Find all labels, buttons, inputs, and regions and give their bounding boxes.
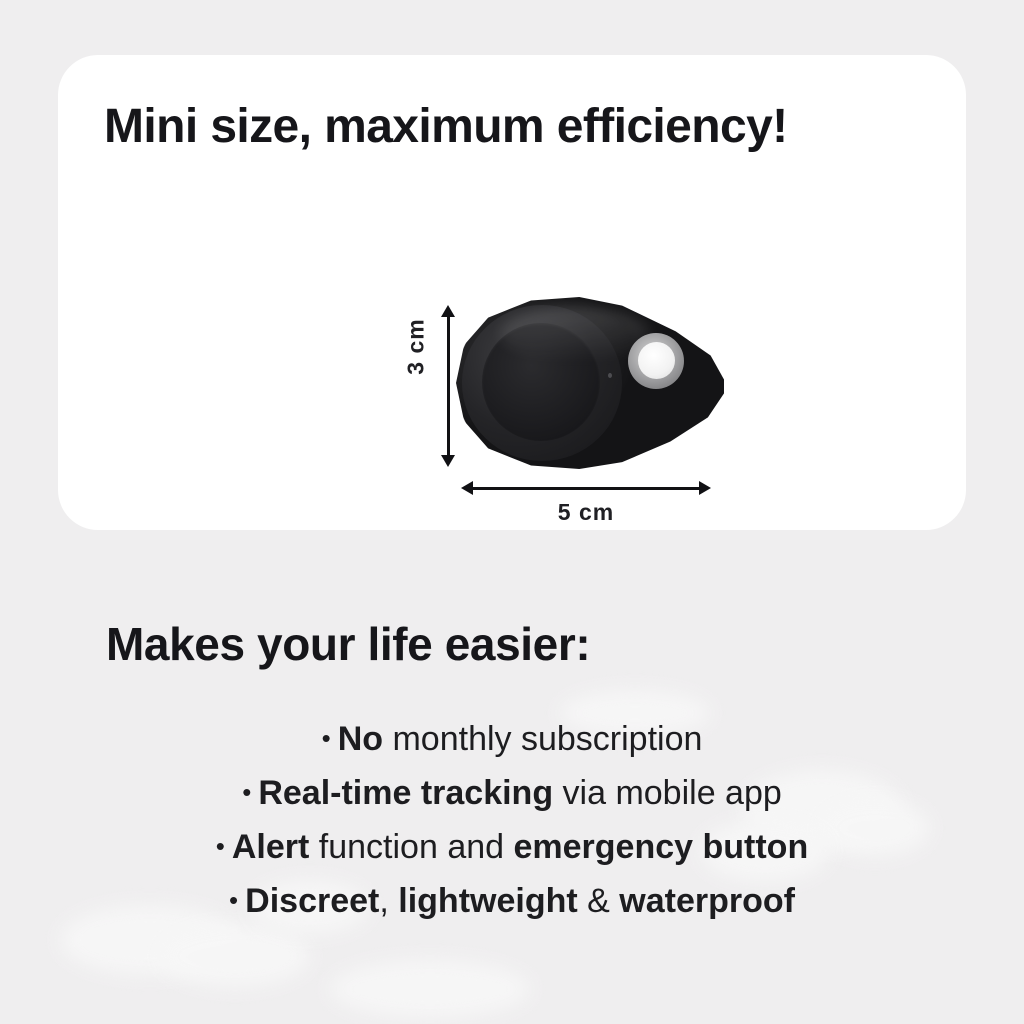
- list-item-plain-2: &: [578, 882, 620, 920]
- arrow-shaft: [447, 312, 450, 460]
- benefits-heading: Makes your life easier:: [106, 617, 590, 671]
- bullet-icon: •: [242, 777, 251, 807]
- cloud-blob: [160, 925, 310, 987]
- product-figure: 3 cm 5 cm: [328, 235, 948, 515]
- height-dimension-arrow: [441, 305, 455, 467]
- list-item-bold-2: lightweight: [398, 882, 577, 920]
- bullet-icon: •: [229, 885, 238, 915]
- list-item: •Real-time tracking via mobile app: [0, 766, 1024, 820]
- list-item-bold-1: Alert: [232, 828, 309, 866]
- list-item: •Discreet, lightweight & waterproof: [0, 874, 1024, 928]
- arrow-shaft: [468, 487, 704, 490]
- fob-highlight: [500, 307, 650, 361]
- arrow-down-head-icon: [441, 455, 455, 467]
- benefits-list: •No monthly subscription •Real-time trac…: [0, 712, 1024, 928]
- fob-keyring-hole: [638, 342, 675, 379]
- list-item-plain-1: ,: [379, 882, 398, 920]
- list-item: •Alert function and emergency button: [0, 820, 1024, 874]
- list-item-bold-1: Real-time tracking: [258, 774, 553, 812]
- cloud-blob: [330, 960, 530, 1018]
- list-item-plain-1: monthly subscription: [383, 720, 702, 758]
- bullet-icon: •: [216, 831, 225, 861]
- list-item-plain-1: function and: [309, 828, 513, 866]
- bullet-icon: •: [322, 723, 331, 753]
- product-card: Mini size, maximum efficiency! 3 cm 5 cm: [58, 55, 966, 530]
- height-dimension-label: 3 cm: [403, 318, 430, 374]
- list-item-bold-2: emergency button: [514, 828, 809, 866]
- list-item-bold-1: Discreet: [245, 882, 379, 920]
- width-dimension-label: 5 cm: [461, 499, 711, 526]
- key-fob-tracker-image: [456, 297, 724, 469]
- arrow-right-head-icon: [699, 481, 711, 495]
- list-item-plain-1: via mobile app: [553, 774, 782, 812]
- list-item: •No monthly subscription: [0, 712, 1024, 766]
- list-item-bold-3: waterproof: [619, 882, 795, 920]
- card-title: Mini size, maximum efficiency!: [104, 99, 788, 154]
- width-dimension-arrow: [461, 481, 711, 495]
- list-item-bold-1: No: [338, 720, 383, 758]
- fob-led-dot: [608, 373, 612, 378]
